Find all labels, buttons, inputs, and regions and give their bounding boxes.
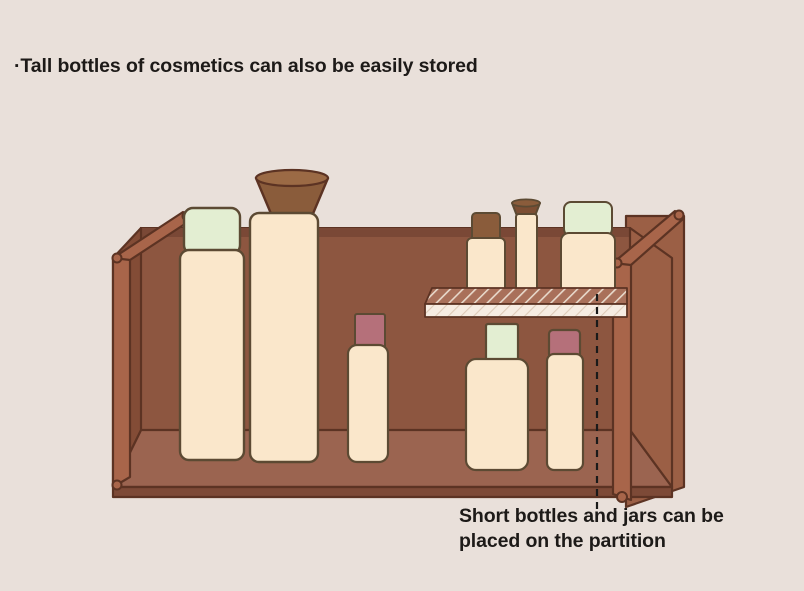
right-edge-cap-bottom: [617, 492, 627, 502]
shelf-illustration: [0, 0, 804, 591]
bottle-body: [250, 213, 318, 462]
shelf-floor-front-edge: [113, 487, 672, 497]
lower-left-bottle-group: [180, 170, 388, 462]
bottle-small-pink-cap[interactable]: [348, 314, 388, 462]
left-rail-cap-bottom: [113, 254, 122, 263]
illustration-canvas: ·Tall bottles of cosmetics can also be e…: [0, 0, 804, 591]
bottle-tall-green-cap[interactable]: [180, 208, 244, 460]
bottle-body: [466, 359, 528, 470]
caption-bottom-line2: placed on the partition: [459, 530, 666, 552]
bottle-partition-brown-cap[interactable]: [467, 213, 505, 296]
cap-green: [564, 202, 612, 236]
vial-partition-cork-cap[interactable]: [512, 199, 540, 296]
caption-bottom: Short bottles and jars can beplaced on t…: [459, 504, 724, 554]
left-edge-cap-bottom: [113, 481, 122, 490]
bottle-body: [180, 250, 244, 460]
bottle-lower-right-pink-cap[interactable]: [547, 330, 583, 470]
cap-green: [184, 208, 240, 254]
vial-body: [516, 214, 537, 296]
jar-partition-green-cap[interactable]: [561, 202, 615, 297]
funnel-top-rim: [256, 170, 328, 186]
caption-bottom-line1: Short bottles and jars can be: [459, 505, 724, 527]
right-rail-cap-top: [675, 211, 684, 220]
bottle-body: [348, 345, 388, 462]
left-panel-edge-strip: [113, 247, 130, 487]
cork-top-rim: [512, 199, 540, 206]
bottle-tall-funnel-cap[interactable]: [250, 170, 328, 462]
bottle-body: [547, 354, 583, 470]
